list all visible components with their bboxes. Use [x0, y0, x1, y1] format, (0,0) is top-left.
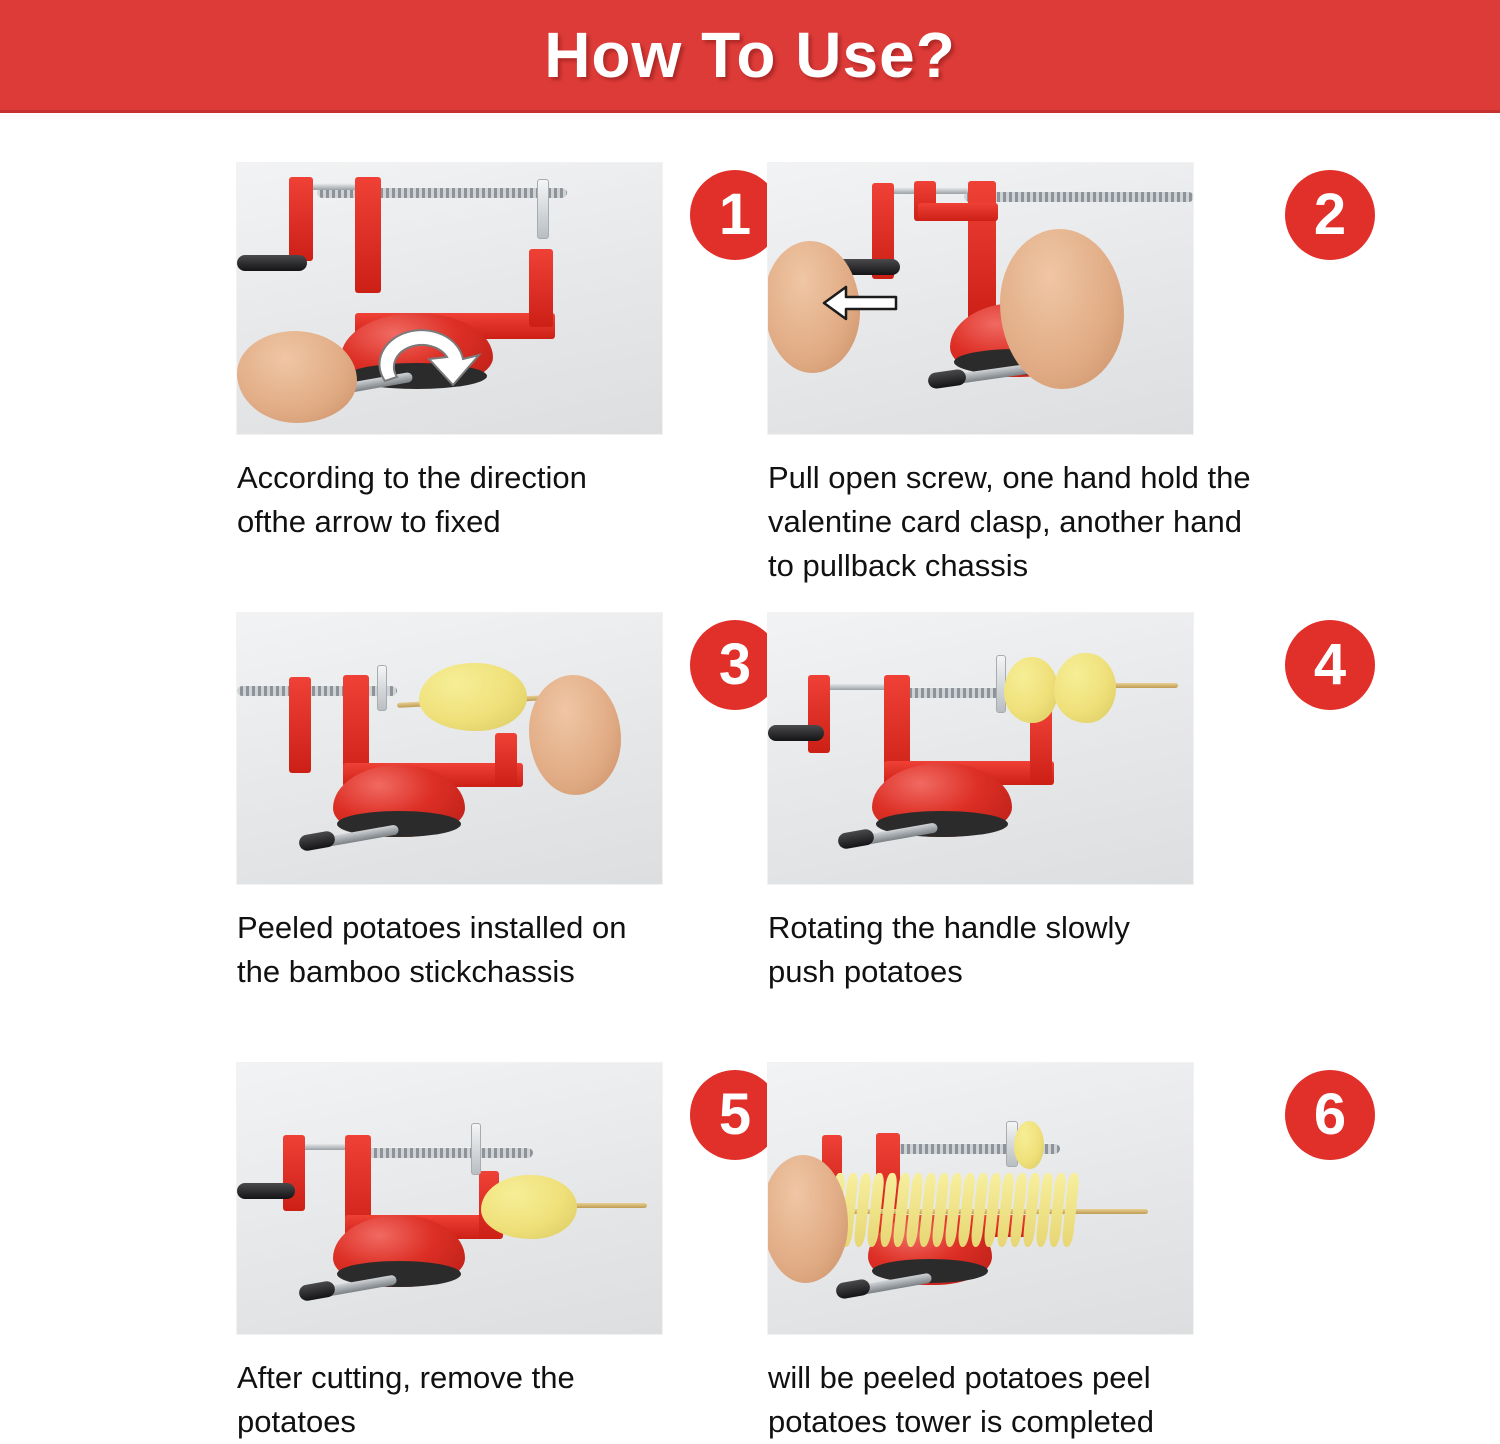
step-1-photo: [237, 163, 662, 434]
blade-plate-icon: [377, 665, 387, 711]
rotate-arrow-icon: [367, 319, 487, 399]
mid-post: [355, 177, 381, 293]
crank-grip: [237, 1183, 295, 1199]
step-2-photo: [768, 163, 1193, 434]
left-arm: [289, 177, 313, 261]
top-beam: [918, 203, 998, 221]
slicer-illustration: [237, 613, 662, 884]
step-1: 1 According to the direction ofthe arrow…: [90, 113, 750, 563]
slicer-illustration: [237, 163, 662, 434]
slicer-illustration: [768, 613, 1193, 884]
step-caption: Rotating the handle slowly push potatoes: [768, 906, 1368, 994]
how-to-use-infographic: How To Use?: [0, 0, 1500, 1444]
blade-plate-icon: [537, 179, 549, 239]
step-5: 5 After cutting, remove the potatoes: [90, 1013, 750, 1444]
slicer-illustration: [768, 1063, 1193, 1334]
header-banner: How To Use?: [0, 0, 1500, 113]
screw-shaft-icon: [964, 191, 1193, 202]
cut-potato: [481, 1175, 577, 1239]
step-number-badge: 6: [1285, 1070, 1375, 1160]
slicer-illustration: [237, 1063, 662, 1334]
left-post: [289, 677, 311, 773]
step-4-photo: [768, 613, 1193, 884]
hand: [237, 331, 357, 423]
step-caption: According to the direction ofthe arrow t…: [237, 456, 707, 544]
lever-grip: [298, 830, 336, 852]
left-arm: [808, 675, 830, 753]
right-post: [529, 249, 553, 327]
step-5-media: 5: [237, 1063, 750, 1334]
lever-grip: [298, 1280, 336, 1302]
step-4-media: 4: [768, 613, 1410, 884]
step-4: 4 Rotating the handle slowly push potato…: [750, 563, 1410, 1013]
step-6-media: 6: [768, 1063, 1410, 1334]
step-caption: After cutting, remove the potatoes: [237, 1356, 707, 1444]
step-2: 2 Pull open screw, one hand hold the val…: [750, 113, 1410, 563]
step-1-media: 1: [237, 163, 750, 434]
step-caption: Peeled potatoes installed on the bamboo …: [237, 906, 707, 994]
right-post: [495, 733, 517, 787]
potato-part-left: [1004, 657, 1058, 723]
screw-shaft-icon: [353, 1147, 533, 1158]
potato-cap: [1014, 1121, 1044, 1169]
step-5-photo: [237, 1063, 662, 1334]
crank-grip: [237, 255, 307, 271]
crank-grip: [768, 725, 824, 741]
step-3-media: 3: [237, 613, 750, 884]
page-title: How To Use?: [544, 18, 956, 92]
screw-shaft-icon: [237, 685, 397, 696]
steps-grid: 1 According to the direction ofthe arrow…: [0, 113, 1500, 1444]
lever-grip: [837, 828, 875, 850]
spiral-potato-tower: [818, 1173, 1078, 1247]
step-3-photo: [237, 613, 662, 884]
step-number-badge: 2: [1285, 170, 1375, 260]
step-6: 6 will be peeled potatoes peel potatoes …: [750, 1013, 1410, 1444]
lever-grip: [835, 1278, 871, 1300]
step-number-badge: 4: [1285, 620, 1375, 710]
slicer-illustration: [768, 163, 1193, 434]
lever-grip: [927, 368, 967, 389]
potato-part-right: [1054, 653, 1116, 723]
left-arm: [283, 1135, 305, 1211]
pull-left-arrow-icon: [820, 283, 900, 323]
hand-right: [1000, 229, 1124, 389]
step-caption: will be peeled potatoes peel potatoes to…: [768, 1356, 1368, 1444]
peeled-potato: [419, 663, 527, 731]
step-2-media: 2: [768, 163, 1410, 434]
step-3: 3 Peeled potatoes installed on the bambo…: [90, 563, 750, 1013]
hand: [529, 675, 621, 795]
blade-plate-icon: [471, 1123, 481, 1175]
mid-post: [968, 181, 996, 321]
step-6-photo: [768, 1063, 1193, 1334]
